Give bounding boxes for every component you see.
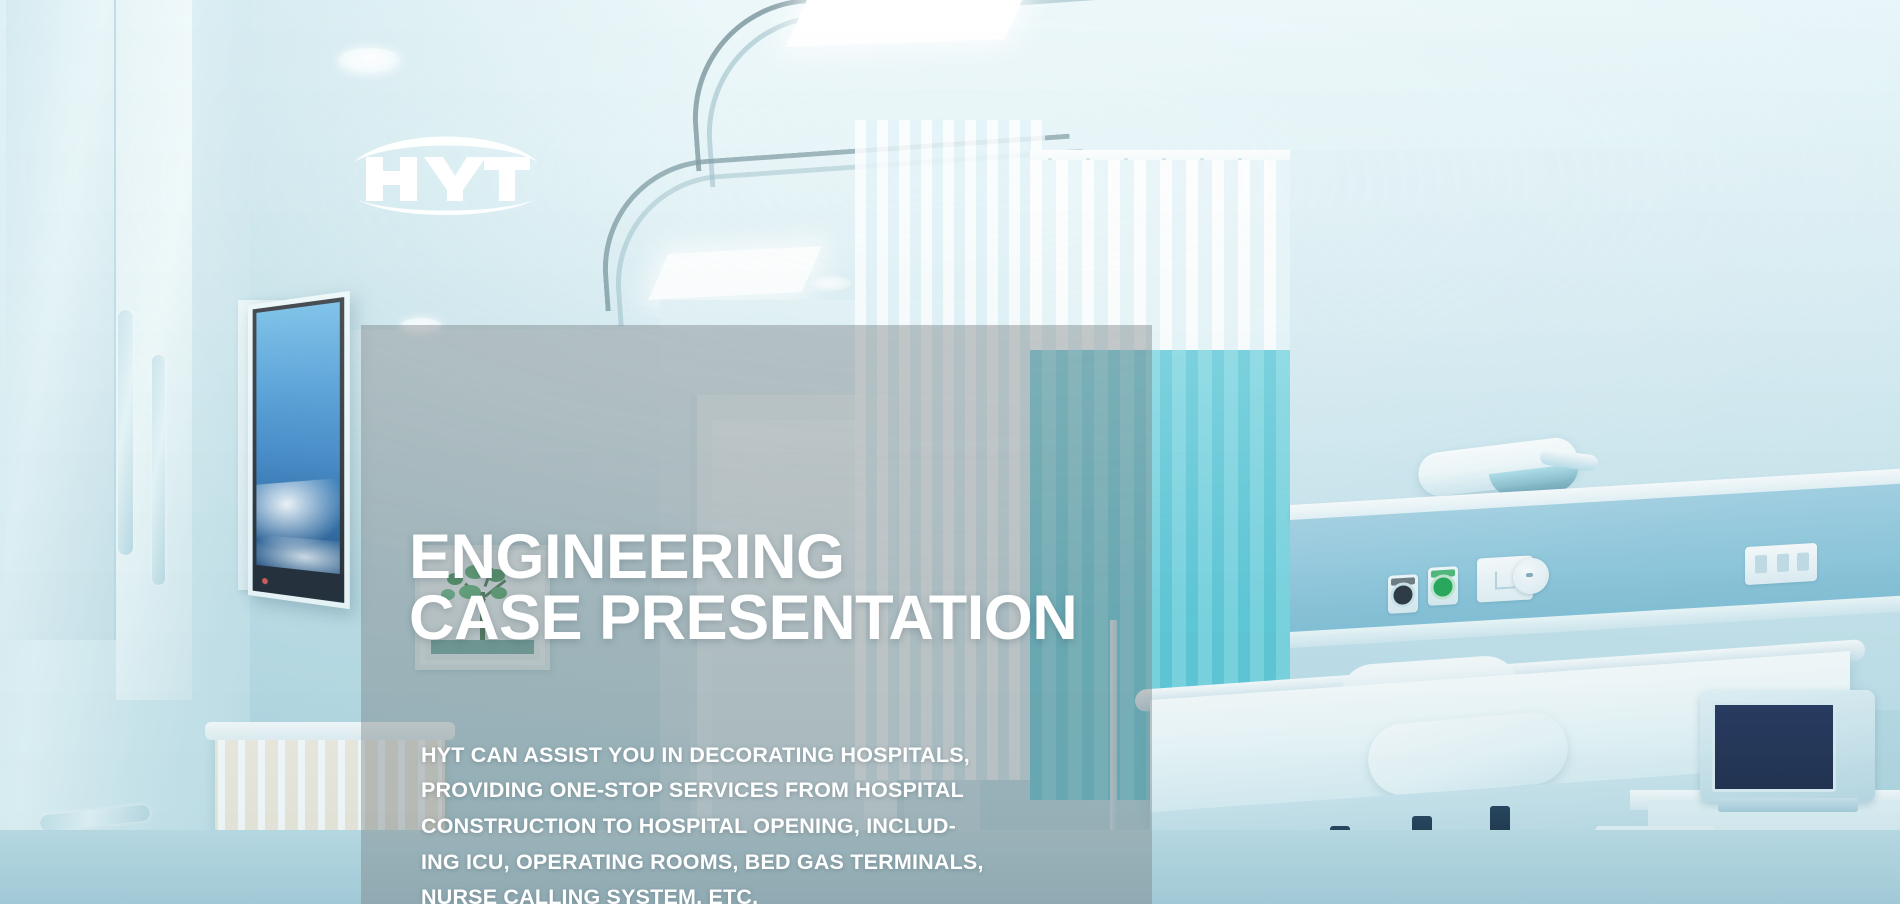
cabinet-handle	[118, 310, 133, 555]
outlet-port-icon	[1391, 582, 1416, 608]
hyt-logo	[352, 126, 540, 222]
ceiling-downlight	[805, 275, 851, 291]
tv-power-led-icon	[262, 578, 268, 585]
cabinet-panel	[6, 0, 116, 640]
hero-description: HYT CAN ASSIST YOU IN DECORATING HOSPITA…	[421, 738, 1061, 904]
outlet-port-icon	[1431, 574, 1456, 600]
page-title: ENGINEERING CASE PRESENTATION	[409, 527, 1169, 648]
hero-banner: ENGINEERING CASE PRESENTATION HYT CAN AS…	[0, 0, 1900, 904]
power-socket[interactable]	[1745, 543, 1817, 585]
ceiling-downlight	[338, 48, 400, 74]
socket-slot	[1797, 552, 1809, 571]
medical-gas-outlet	[1388, 574, 1418, 614]
medical-gas-outlet-oxygen	[1428, 566, 1458, 606]
tv-screen	[256, 302, 339, 598]
monitor-screen	[1712, 702, 1836, 792]
socket-slot	[1777, 554, 1789, 573]
ceiling-led-panel	[648, 246, 822, 300]
cabinet-handle	[152, 355, 165, 585]
wall-mounted-tv	[248, 291, 350, 609]
monitor-stand	[1718, 798, 1858, 812]
socket-slot	[1755, 555, 1767, 574]
